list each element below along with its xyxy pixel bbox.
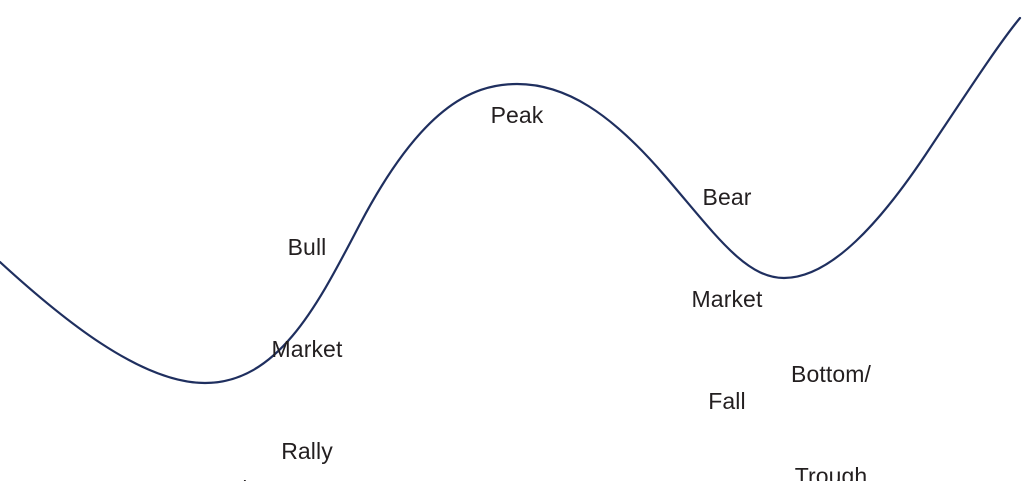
label-bottom-trough-left-line-1: Bottom/ <box>166 472 246 481</box>
label-bear-market-fall-line-3: Fall <box>692 384 763 418</box>
label-bull-market-rally: Bull Market Rally <box>272 162 343 481</box>
label-peak: Peak <box>491 30 544 200</box>
label-bull-market-rally-line-2: Market <box>272 332 343 366</box>
label-bull-market-rally-line-3: Rally <box>272 434 343 468</box>
label-bear-market-fall-line-1: Bear <box>692 180 763 214</box>
label-bull-market-rally-line-1: Bull <box>272 230 343 264</box>
label-bottom-trough-right: Bottom/ Trough <box>791 289 871 481</box>
label-bottom-trough-right-line-1: Bottom/ <box>791 357 871 391</box>
market-cycle-diagram: Peak Bull Market Rally Bear Market Fall … <box>0 0 1024 481</box>
label-bottom-trough-right-line-2: Trough <box>791 459 871 481</box>
label-peak-line-1: Peak <box>491 98 544 132</box>
label-bear-market-fall-line-2: Market <box>692 282 763 316</box>
label-bear-market-fall: Bear Market Fall <box>692 112 763 481</box>
label-bottom-trough-left: Bottom/ Trough <box>166 404 246 481</box>
